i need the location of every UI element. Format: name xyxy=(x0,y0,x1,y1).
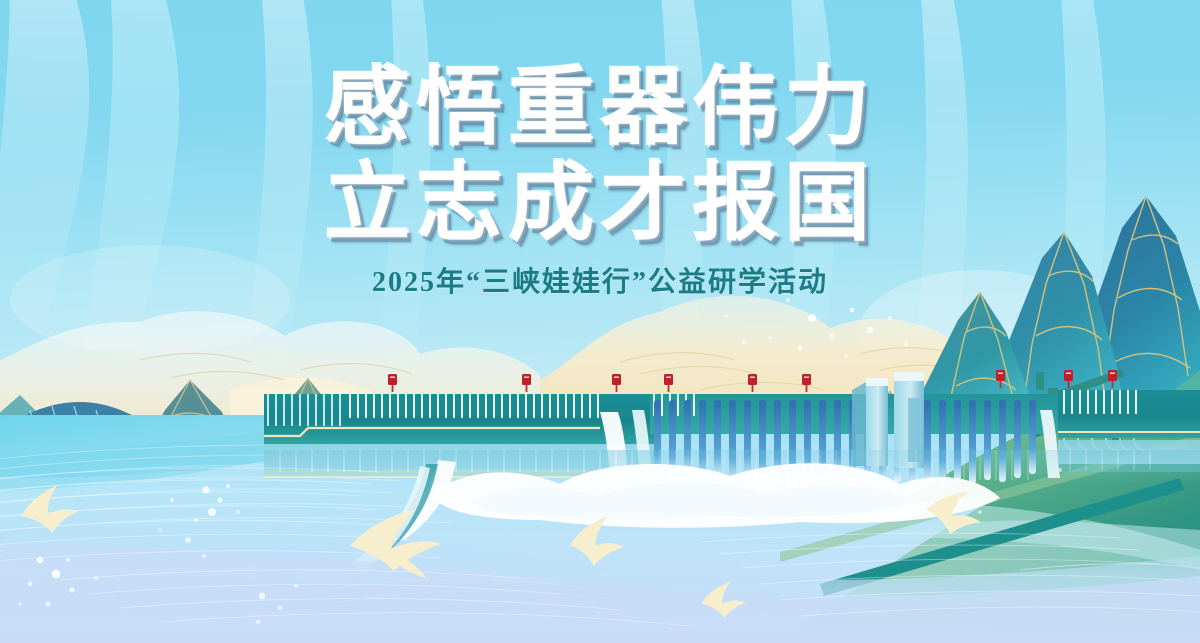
swallow-birds xyxy=(0,440,1200,643)
title-line-2: 立志成才报国 xyxy=(0,156,1200,250)
title-line-1: 感悟重器伟力 xyxy=(0,60,1200,154)
headline-block: 感悟重器伟力 立志成才报国 2025年“三峡娃娃行”公益研学活动 xyxy=(0,60,1200,300)
flag-row xyxy=(388,370,1117,392)
promo-banner: 感悟重器伟力 立志成才报国 2025年“三峡娃娃行”公益研学活动 xyxy=(0,0,1200,643)
subtitle: 2025年“三峡娃娃行”公益研学活动 xyxy=(0,266,1200,300)
